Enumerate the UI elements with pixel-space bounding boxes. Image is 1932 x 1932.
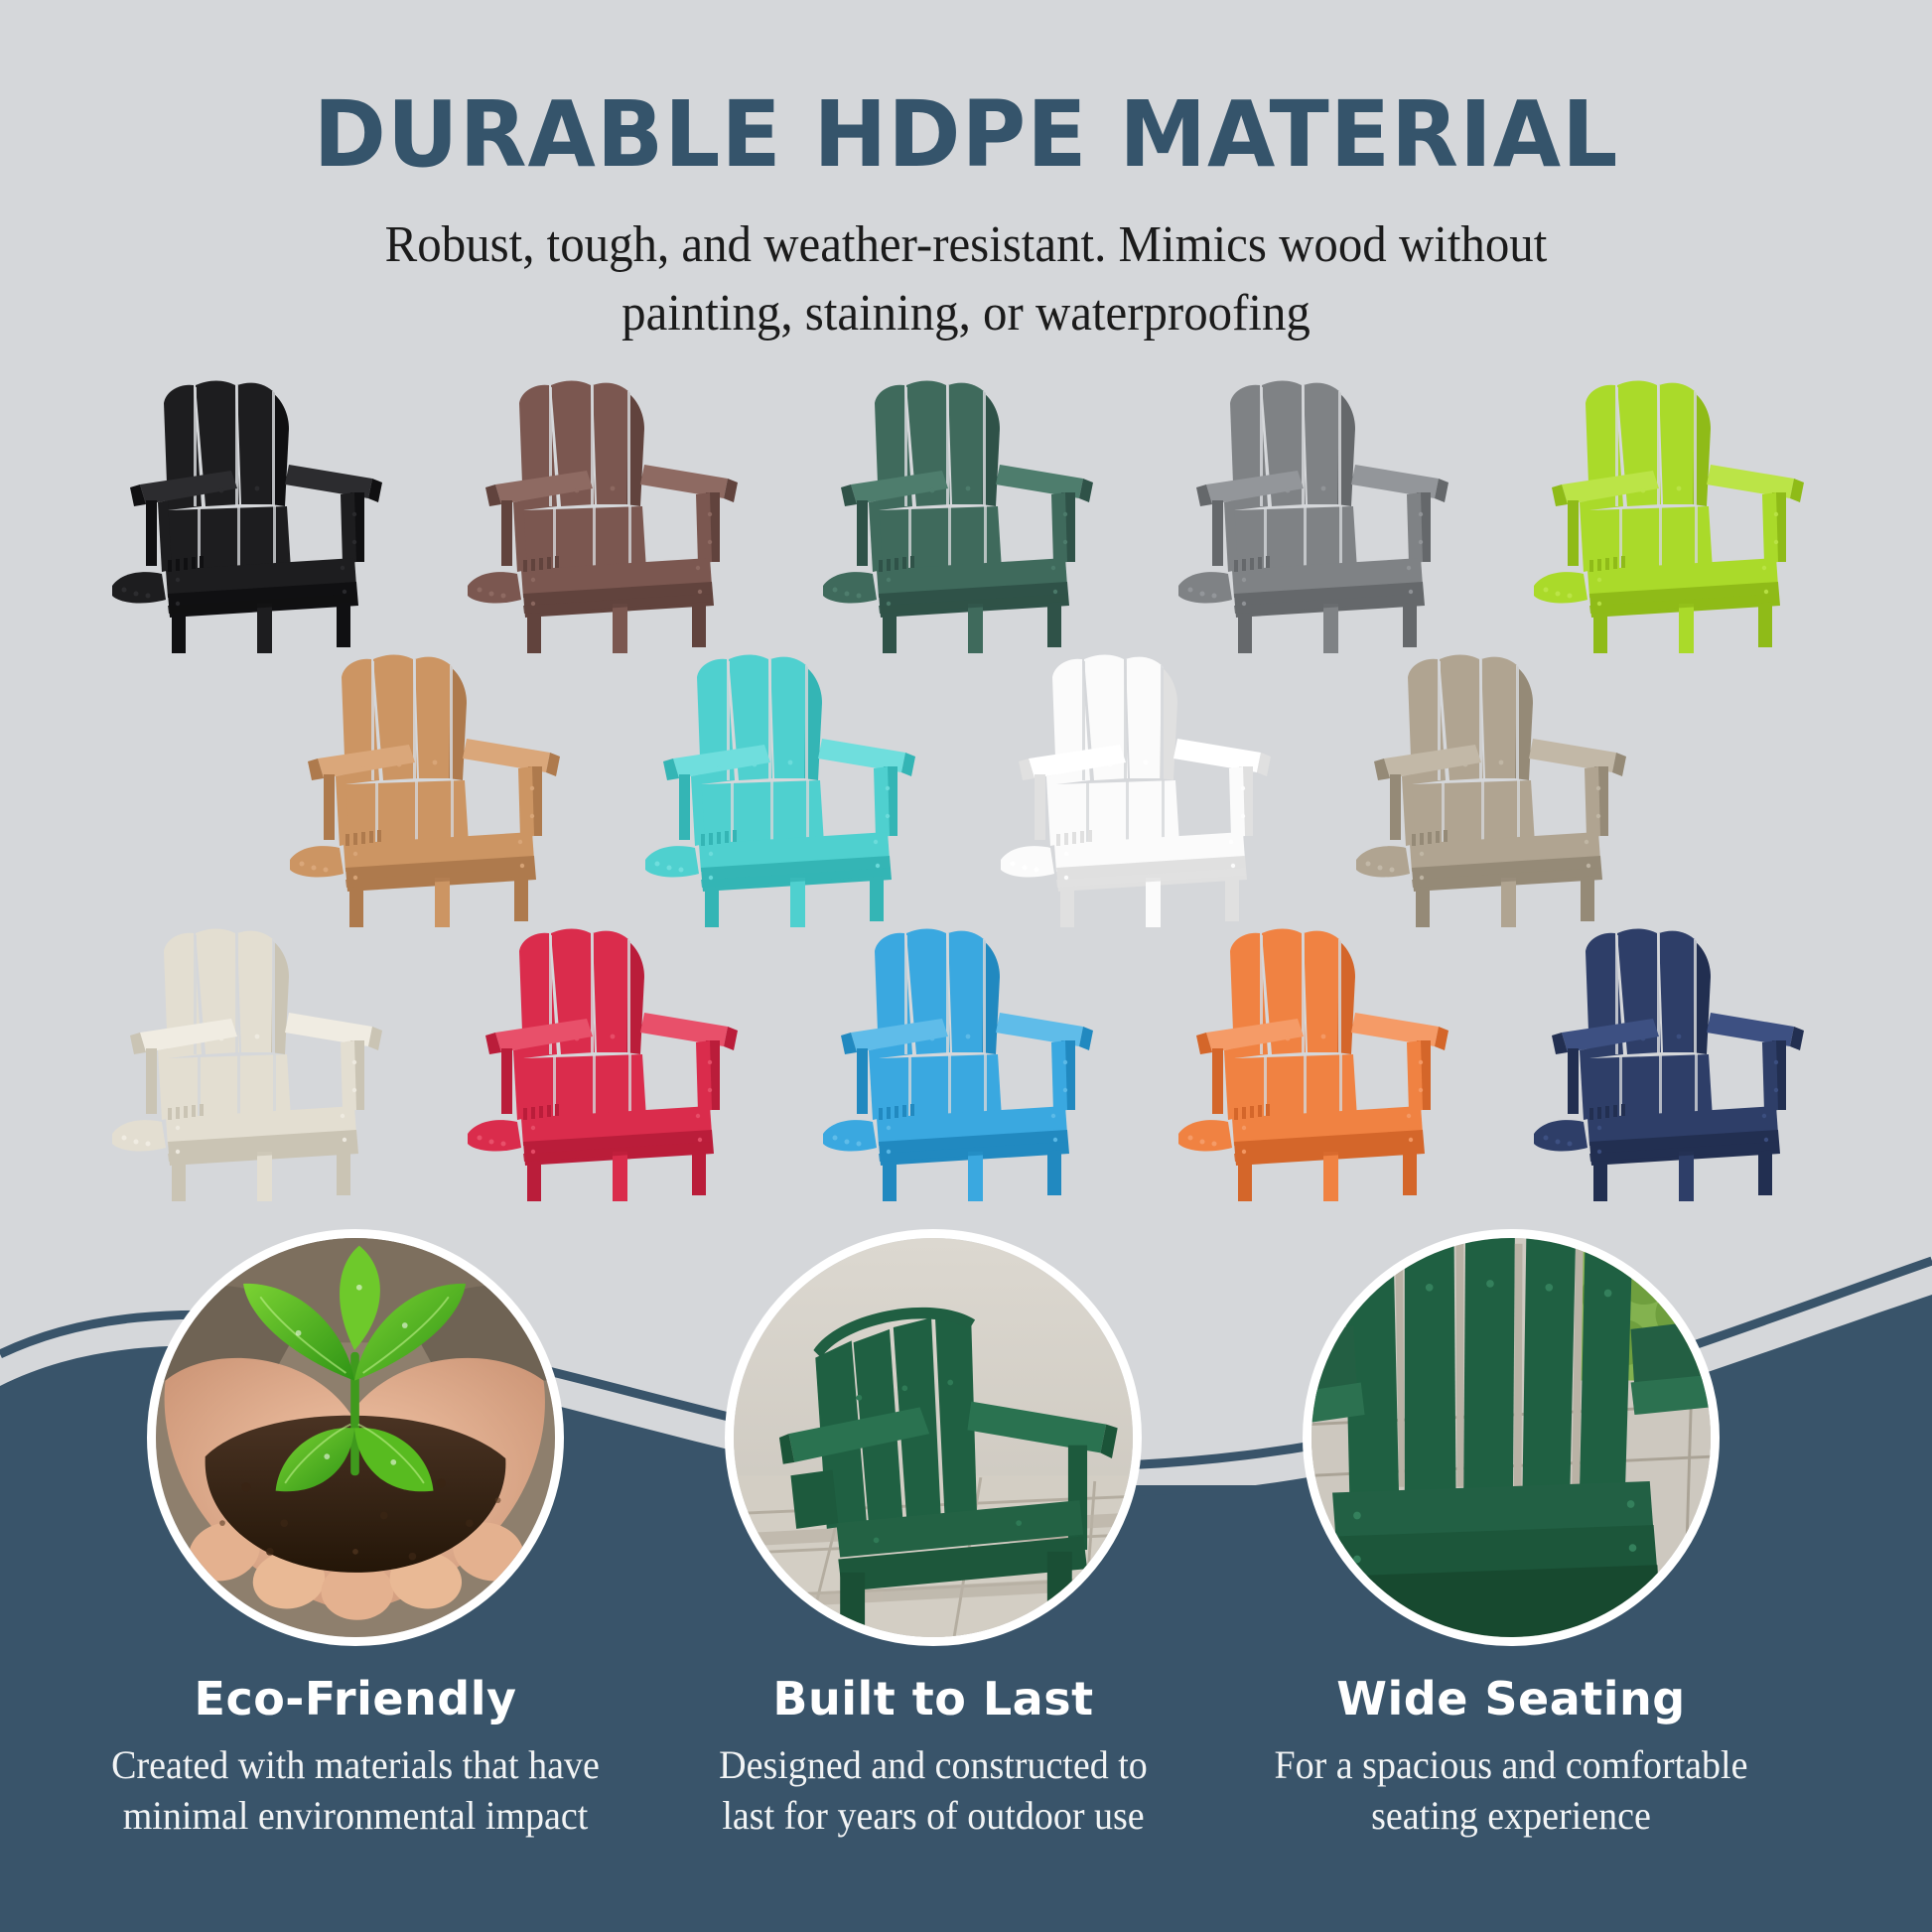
- adirondack-chair-ivory: [106, 923, 404, 1201]
- chair-swatch-ivory[interactable]: [106, 923, 404, 1201]
- feature-built-to-last: Built to Last Designed and constructed t…: [655, 1229, 1211, 1841]
- adirondack-chair-dark-green: [817, 375, 1115, 653]
- adirondack-chair-sky-blue: [817, 923, 1115, 1201]
- chair-swatch-turquoise[interactable]: [639, 649, 937, 927]
- chair-row-3: [0, 923, 1932, 1201]
- feature-wide-seating: Wide Seating For a spacious and comforta…: [1233, 1229, 1789, 1841]
- adirondack-chair-brown: [462, 375, 759, 653]
- eco-friendly-image: [147, 1229, 564, 1646]
- chair-row-1: [0, 375, 1932, 653]
- feature-section: Eco-Friendly Created with materials that…: [0, 1177, 1932, 1932]
- chair-color-grid: [0, 375, 1932, 1201]
- feature-eco-friendly: Eco-Friendly Created with materials that…: [77, 1229, 633, 1841]
- chair-seat-closeup-icon: [1311, 1238, 1711, 1637]
- green-chair-on-patio-icon: [734, 1238, 1133, 1637]
- feature-desc-line-2: last for years of outdoor use: [669, 1790, 1197, 1841]
- chair-swatch-brown[interactable]: [462, 375, 759, 653]
- chair-swatch-lime-green[interactable]: [1528, 375, 1826, 653]
- built-to-last-image: [725, 1229, 1142, 1646]
- feature-title: Wide Seating: [1233, 1672, 1789, 1725]
- feature-desc-line-2: seating experience: [1247, 1790, 1775, 1841]
- adirondack-chair-gray: [1173, 375, 1470, 653]
- chair-row-2: [0, 649, 1932, 927]
- chair-swatch-teak[interactable]: [284, 649, 582, 927]
- page-title: DURABLE HDPE MATERIAL: [39, 87, 1893, 184]
- feature-title: Eco-Friendly: [77, 1672, 633, 1725]
- chair-swatch-weathered-wood[interactable]: [1350, 649, 1648, 927]
- chair-swatch-dark-green[interactable]: [817, 375, 1115, 653]
- chair-swatch-white[interactable]: [995, 649, 1293, 927]
- adirondack-chair-lime-green: [1528, 375, 1826, 653]
- feature-desc-line-1: For a spacious and comfortable: [1247, 1739, 1775, 1790]
- adirondack-chair-weathered-wood: [1350, 649, 1648, 927]
- infographic-root: DURABLE HDPE MATERIAL Robust, tough, and…: [0, 0, 1932, 1932]
- adirondack-chair-white: [995, 649, 1293, 927]
- adirondack-chair-red: [462, 923, 759, 1201]
- adirondack-chair-teak: [284, 649, 582, 927]
- feature-desc-line-2: minimal environmental impact: [91, 1790, 620, 1841]
- chair-swatch-gray[interactable]: [1173, 375, 1470, 653]
- adirondack-chair-navy-blue: [1528, 923, 1826, 1201]
- chair-swatch-red[interactable]: [462, 923, 759, 1201]
- chair-swatch-black[interactable]: [106, 375, 404, 653]
- chair-swatch-navy-blue[interactable]: [1528, 923, 1826, 1201]
- chair-swatch-orange[interactable]: [1173, 923, 1470, 1201]
- feature-title: Built to Last: [655, 1672, 1211, 1725]
- subtitle-line-2: painting, staining, or waterproofing: [58, 280, 1873, 347]
- adirondack-chair-black: [106, 375, 404, 653]
- chair-swatch-sky-blue[interactable]: [817, 923, 1115, 1201]
- adirondack-chair-turquoise: [639, 649, 937, 927]
- hands-holding-soil-icon: [156, 1238, 555, 1637]
- wide-seating-image: [1303, 1229, 1720, 1646]
- header: DURABLE HDPE MATERIAL Robust, tough, and…: [0, 0, 1932, 347]
- feature-desc-line-1: Designed and constructed to: [669, 1739, 1197, 1790]
- adirondack-chair-orange: [1173, 923, 1470, 1201]
- subtitle-line-1: Robust, tough, and weather-resistant. Mi…: [58, 211, 1873, 279]
- feature-desc-line-1: Created with materials that have: [91, 1739, 620, 1790]
